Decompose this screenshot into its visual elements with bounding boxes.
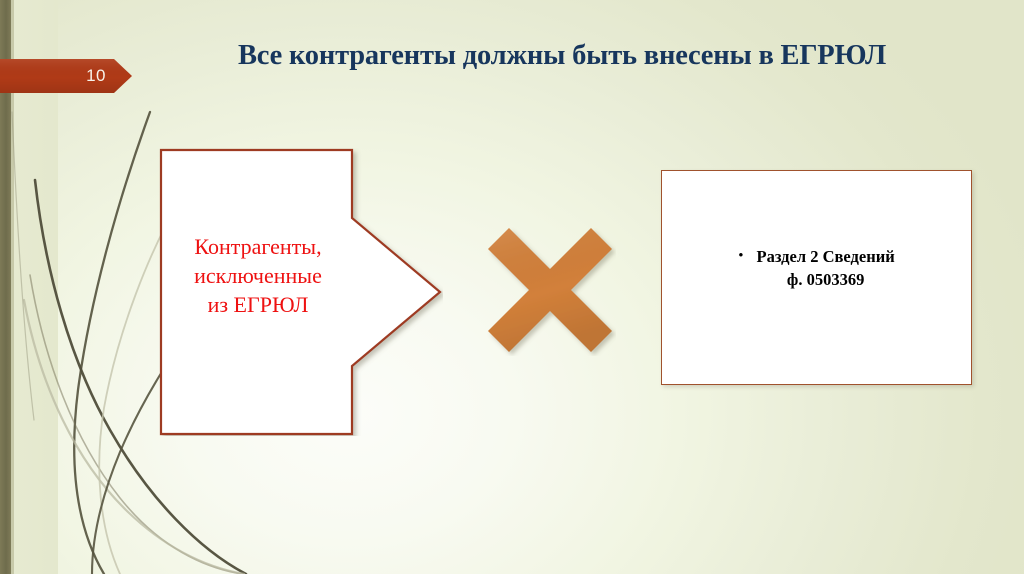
presentation-slide: 10 Все контрагенты должны быть внесены в… <box>0 0 1024 574</box>
slide-number-label: 10 <box>0 59 112 93</box>
right-box-content: • Раздел 2 Сведений ф. 0503369 <box>662 245 971 291</box>
left-arrow-shape[interactable]: Контрагенты, исключенные из ЕГРЮЛ <box>159 148 443 436</box>
right-content-box[interactable]: • Раздел 2 Сведений ф. 0503369 <box>661 170 972 385</box>
multiply-cross-icon <box>484 224 616 356</box>
slide-number-banner: 10 <box>0 59 132 93</box>
right-box-label: Раздел 2 Сведений ф. 0503369 <box>757 245 895 291</box>
left-shape-label: Контрагенты, исключенные из ЕГРЮЛ <box>163 232 353 319</box>
slide-title: Все контрагенты должны быть внесены в ЕГ… <box>150 36 974 76</box>
bullet-icon: • <box>738 245 743 268</box>
list-item: • Раздел 2 Сведений ф. 0503369 <box>738 245 894 291</box>
